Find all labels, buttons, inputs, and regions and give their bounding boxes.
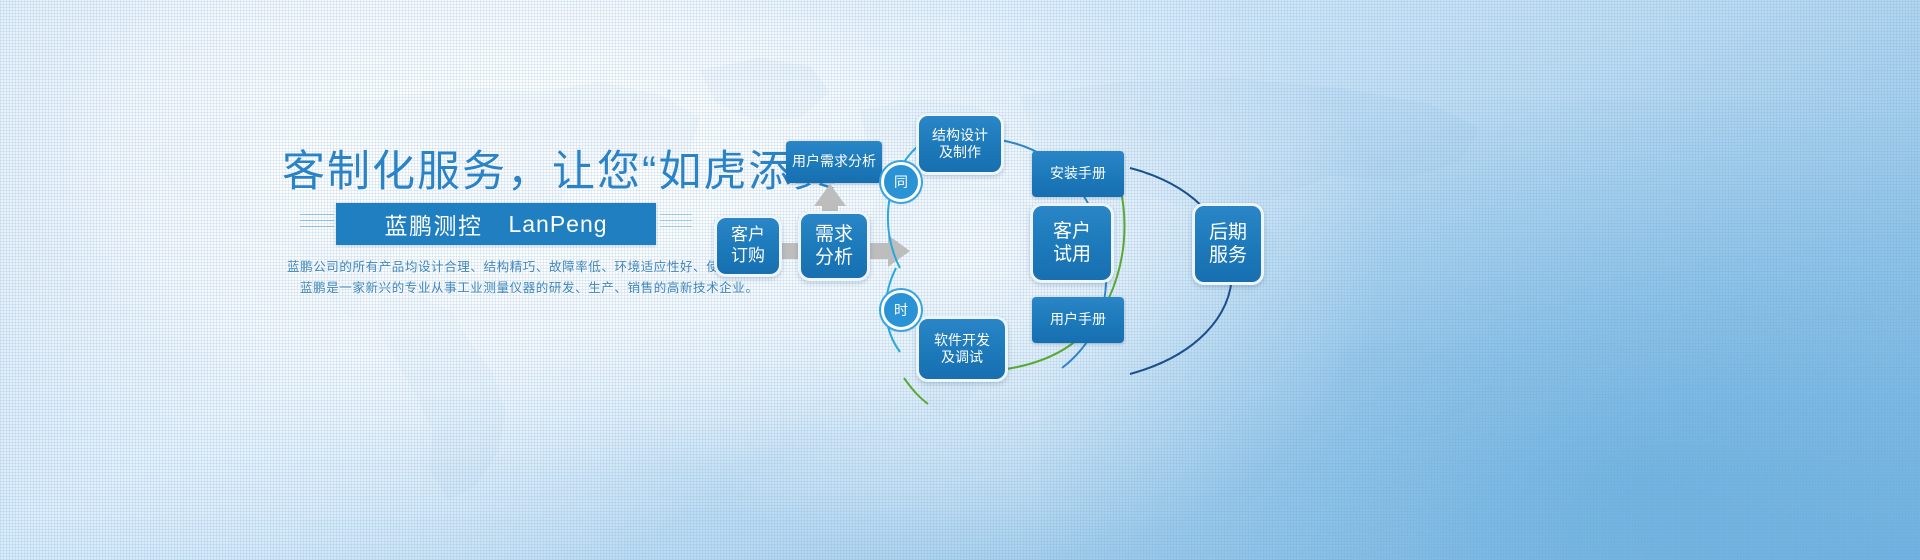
flow-badge-label: 同 [894, 172, 908, 192]
flow-node-structure-design[interactable]: 结构设计 及制作 [916, 113, 1004, 175]
flow-node-customer-order[interactable]: 客户 订购 [714, 215, 782, 277]
flow-node-label: 客户 试用 [1053, 220, 1091, 266]
flow-connectors [0, 0, 1920, 560]
flow-node-user-manual[interactable]: 用户手册 [1032, 297, 1124, 343]
flow-node-label: 用户需求分析 [792, 153, 876, 170]
custom-service-banner: 客制化服务，让您“如虎添翼” 蓝鹏测控 LanPeng 蓝鹏公司的所有产品均设计… [0, 0, 1920, 560]
flow-node-customer-trial[interactable]: 客户 试用 [1030, 203, 1114, 283]
flow-node-install-manual[interactable]: 安装手册 [1032, 151, 1124, 197]
flow-badge-shi[interactable]: 时 [881, 290, 921, 330]
flow-node-label: 客户 订购 [731, 225, 765, 266]
flow-node-label: 软件开发 及调试 [934, 332, 990, 366]
flow-node-demand-analysis[interactable]: 需求 分析 [798, 211, 870, 281]
flow-node-after-service[interactable]: 后期 服务 [1192, 203, 1264, 285]
flow-node-label: 需求 分析 [815, 223, 853, 269]
flow-badge-tong[interactable]: 同 [881, 162, 921, 202]
flow-node-label: 结构设计 及制作 [932, 127, 988, 161]
flow-node-label: 后期 服务 [1209, 221, 1247, 267]
flow-badge-label: 时 [894, 300, 908, 320]
flow-node-software-dev[interactable]: 软件开发 及调试 [916, 316, 1008, 382]
flow-node-label: 用户手册 [1050, 311, 1106, 328]
curve-green-start [904, 378, 928, 404]
service-flow-diagram: 用户需求分析 客户 订购 需求 分析 结构设计 及制作 软件开发 及调试 安装手… [0, 0, 1920, 560]
flow-node-label: 安装手册 [1050, 165, 1106, 182]
flow-node-user-demand-analysis[interactable]: 用户需求分析 [786, 141, 882, 183]
